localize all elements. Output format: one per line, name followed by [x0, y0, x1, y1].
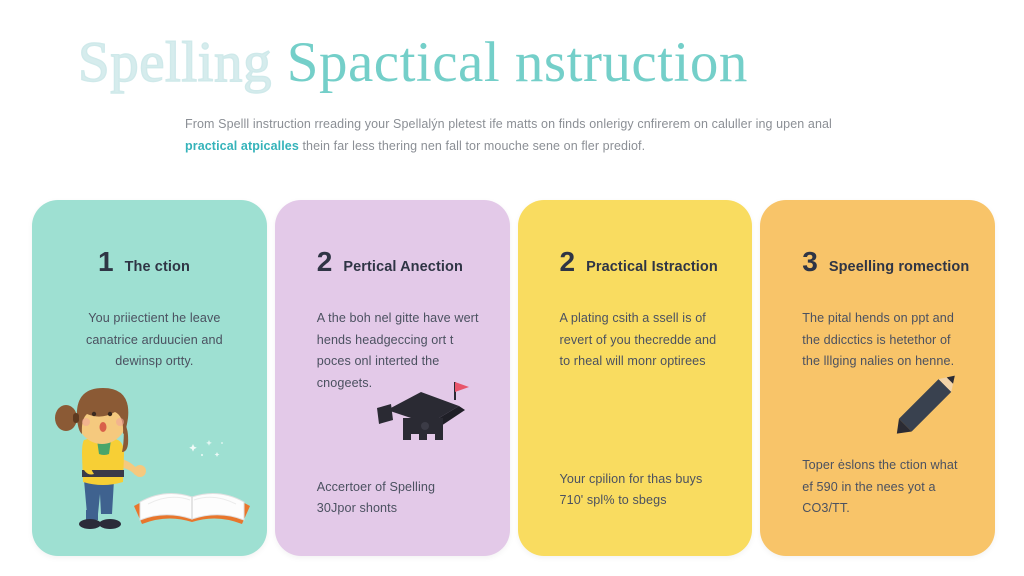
card-heading: 1 The ction [32, 200, 267, 276]
page-title-outline: Spelling [78, 31, 272, 94]
page-subtitle: From Spelll instruction rreading your Sp… [0, 114, 835, 157]
subtitle-accent-phrase: practical atpicalles [185, 139, 299, 153]
card-step-title: Pertical Anection [343, 259, 463, 275]
card-step-4[interactable]: 3 Speelling romection The pital hends on… [760, 200, 995, 556]
card-body-text: A plating csith a ssell is of revert of … [518, 276, 753, 373]
card-footer-text: Your cpilion for thas buys 710' spl% to … [560, 469, 727, 512]
card-step-number: 3 [802, 248, 818, 276]
card-step-number: 1 [98, 248, 114, 276]
subtitle-text-after: thein far less thering nen fall tor mouc… [299, 139, 645, 153]
card-step-number: 2 [317, 248, 333, 276]
card-step-3[interactable]: 2 Practical Istraction A plating csith a… [518, 200, 753, 556]
card-step-title: The ction [125, 259, 190, 275]
card-step-title: Practical Istraction [586, 259, 718, 275]
open-book-illustration [130, 466, 255, 528]
pencil-icon [875, 358, 971, 454]
card-body-text: You priiectient he leave canatrice arduu… [32, 276, 267, 373]
sparkle-icon [187, 438, 227, 464]
page-title: Spelling Spactical nstruction [0, 34, 1024, 92]
card-footer-text: Accertoer of Spelling 30Jpor shonts [317, 477, 484, 520]
card-heading: 2 Pertical Anection [275, 200, 510, 276]
page-header: Spelling Spactical nstruction From Spell… [0, 0, 1024, 157]
card-heading: 3 Speelling romection [760, 200, 995, 276]
card-body-text: A the boh nel gitte have wert hends head… [275, 276, 510, 395]
card-footer-text: Toper ėslons the ction what ef 590 in th… [802, 455, 969, 520]
subtitle-text-before: From Spelll instruction rreading your Sp… [185, 117, 832, 131]
graduation-cap-icon [367, 380, 475, 452]
card-row: 1 The ction You priiectient he leave can… [32, 200, 995, 556]
card-step-2[interactable]: 2 Pertical Anection A the boh nel gitte … [275, 200, 510, 556]
page-title-solid: Spactical nstruction [287, 31, 748, 94]
card-step-number: 2 [560, 248, 576, 276]
card-heading: 2 Practical Istraction [518, 200, 753, 276]
card-step-1[interactable]: 1 The ction You priiectient he leave can… [32, 200, 267, 556]
card-step-title: Speelling romection [829, 259, 969, 275]
